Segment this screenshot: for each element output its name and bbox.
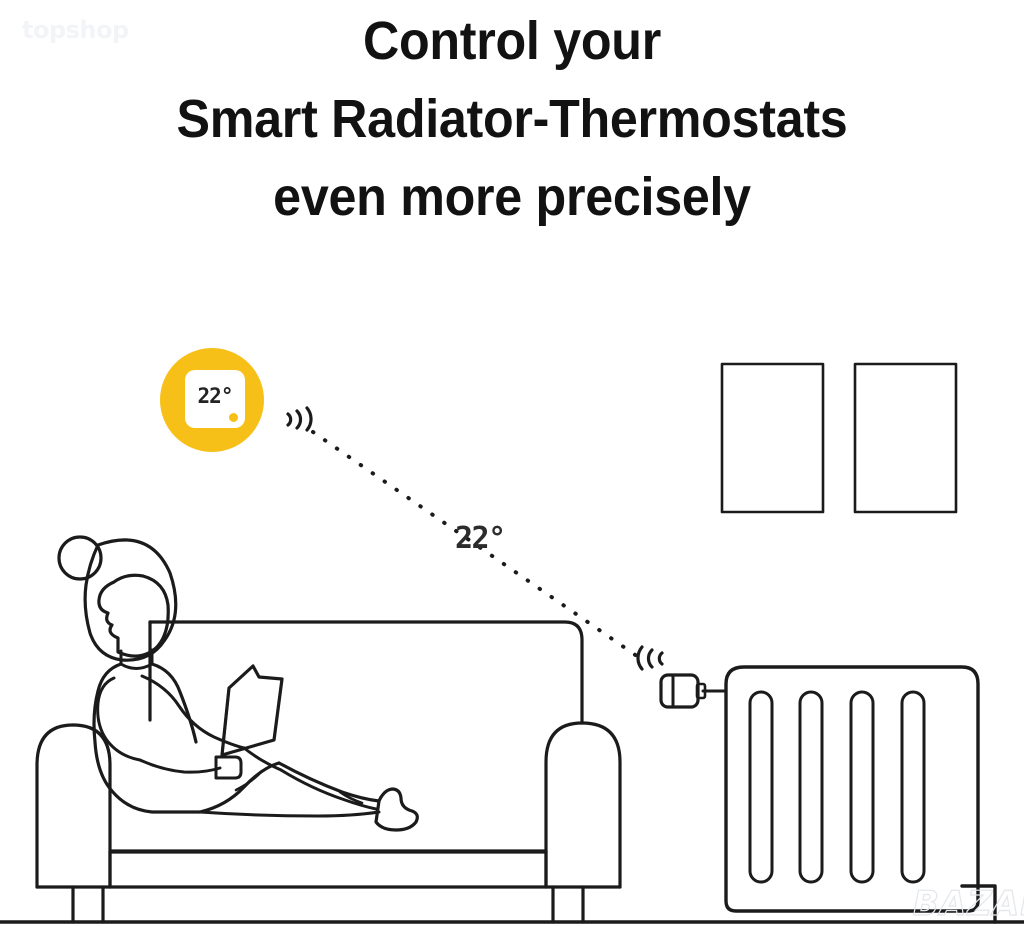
- wifi-signal-valve-icon: [638, 647, 662, 669]
- wall-frame-left-icon: [722, 364, 823, 512]
- thermostat-temperature-value: 22°: [185, 384, 245, 408]
- bazar-watermark: BAZAR: [913, 884, 1024, 924]
- thermostat-screen: 22°: [185, 370, 245, 428]
- wall-frame-right-icon: [855, 364, 956, 512]
- radiator-valve-icon: [661, 675, 726, 707]
- wifi-signal-thermostat-icon: [288, 408, 311, 430]
- woman-reading-icon: [59, 537, 417, 830]
- thermostat-status-dot: [229, 413, 238, 422]
- room-illustration: [0, 0, 1024, 937]
- signal-temperature-label: 22°: [455, 521, 505, 556]
- product-image-canvas: topshop Control your Smart Radiator-Ther…: [0, 0, 1024, 937]
